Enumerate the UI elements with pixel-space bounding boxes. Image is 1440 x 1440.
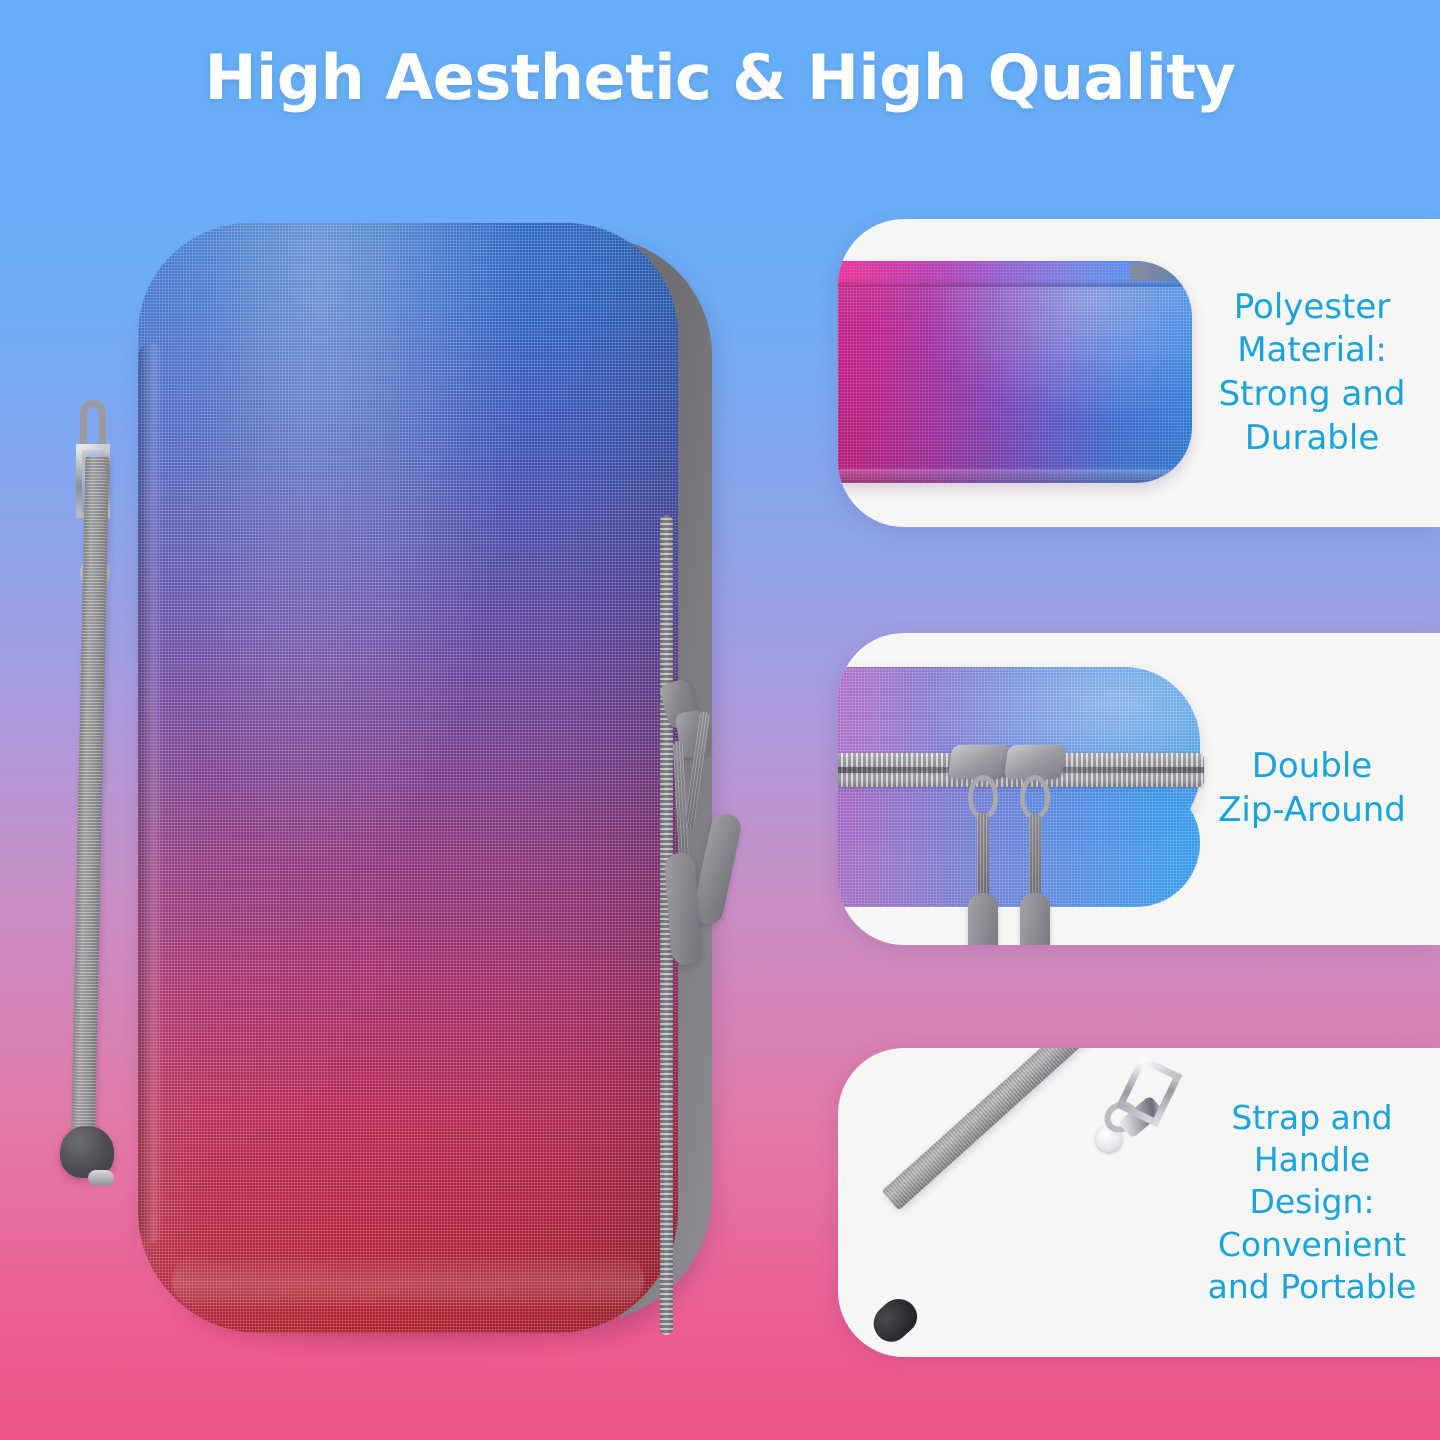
zipper-slider [1004, 745, 1067, 779]
zipper-pull-tab [1020, 893, 1050, 945]
case-end-body [838, 261, 1192, 483]
wrist-strap-assembly [844, 1052, 1196, 1352]
feature-card-polyester-material: Polyester Material: Strong and Durable [838, 219, 1440, 527]
page-title: High Aesthetic & High Quality [0, 44, 1440, 112]
zipper-tab [664, 852, 702, 966]
polyester-weave-texture [838, 261, 1192, 483]
zipper-tab [691, 811, 744, 927]
case-bottom-seam [172, 1253, 644, 1307]
case-end-closeup-image [838, 219, 1196, 527]
polyester-weave-texture [138, 223, 678, 1333]
feature-caption-polyester-material: Polyester Material: Strong and Durable [1196, 286, 1440, 460]
wrist-strap-closeup-image [838, 1048, 1196, 1357]
zipper-pull-tab [968, 893, 998, 945]
strap-toggle-stopper [60, 1126, 114, 1178]
case-lower-shell [838, 779, 1200, 907]
feature-card-strap-handle-design: Strap and Handle Design: Convenient and … [838, 1048, 1440, 1357]
case-fabric-body [138, 223, 678, 1333]
strap-toggle-pin [88, 1170, 114, 1186]
feature-card-double-zip-around: Double Zip-Around [838, 633, 1440, 945]
strap-webbing [881, 1048, 1115, 1211]
zipper-pull-cord [1029, 813, 1041, 899]
zipper-slider [948, 745, 1011, 779]
case-left-edge-highlight [138, 343, 164, 1243]
double-zipper-closeup-image [838, 633, 1196, 945]
strap-end-tip [866, 1291, 924, 1349]
hero-zipper-pulls [658, 675, 768, 975]
feature-caption-double-zip-around: Double Zip-Around [1196, 745, 1440, 832]
case-corner-piping [1130, 263, 1188, 281]
polyester-weave-texture [838, 779, 1200, 907]
hero-wrist-strap [70, 400, 100, 1160]
feature-caption-strap-handle-design: Strap and Handle Design: Convenient and … [1196, 1097, 1440, 1308]
hero-product-image [118, 205, 728, 1355]
carabiner-clip-icon [1102, 1062, 1188, 1154]
case-base-shadow [838, 469, 1184, 483]
zipper-pull-cord [977, 813, 989, 899]
